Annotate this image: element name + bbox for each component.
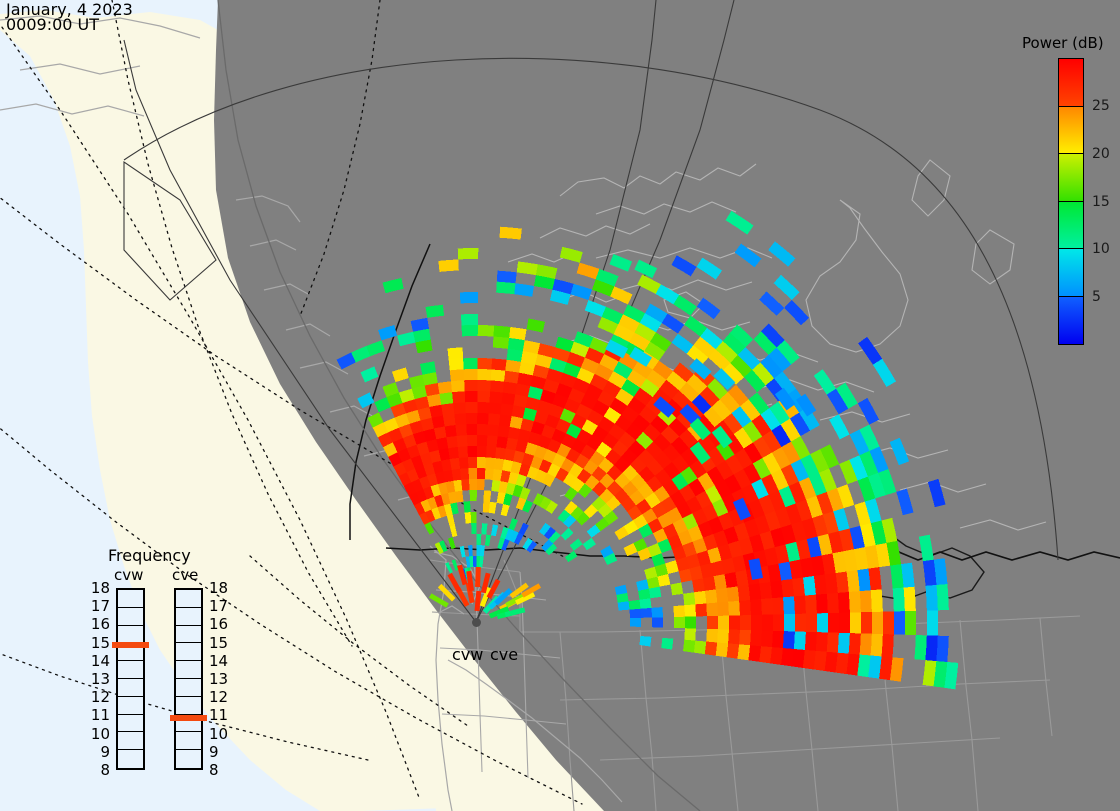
range-gate-cell: [468, 457, 477, 468]
range-gate-cell: [500, 227, 522, 240]
frequency-legend-title: Frequency: [108, 546, 191, 565]
range-gate-cell: [827, 632, 839, 652]
frequency-tick-cve-15: 15: [209, 634, 231, 652]
range-gate-cell: [803, 576, 816, 596]
range-gate-cell: [466, 424, 477, 435]
range-gate-cell: [706, 629, 718, 643]
range-gate-cell: [465, 512, 472, 523]
range-gate-cell: [438, 381, 452, 394]
range-gate-cell: [486, 446, 496, 458]
range-gate-cell: [894, 611, 905, 635]
range-gate-cell: [692, 578, 705, 592]
range-gate-cell: [727, 643, 740, 658]
range-gate-cell: [427, 394, 441, 407]
frequency-tick-cvw-13: 13: [88, 670, 110, 688]
range-gate-cell: [717, 602, 729, 616]
range-gate-cell: [849, 633, 861, 654]
range-gate-cell: [457, 435, 468, 447]
range-gate-cell: [651, 607, 663, 618]
range-gate-cell: [467, 435, 477, 446]
colorbar-tick-10: 10: [1092, 241, 1110, 257]
range-gate-cell: [705, 642, 717, 656]
frequency-cell: [118, 679, 143, 697]
frequency-cell: [176, 643, 201, 661]
range-gate-cell: [450, 458, 460, 470]
range-gate-cell: [507, 349, 523, 362]
range-gate-cell: [639, 598, 651, 609]
range-gate-cell: [489, 402, 502, 414]
range-gate-cell: [509, 327, 526, 340]
range-gate-cell: [448, 447, 459, 459]
range-gate-cell: [750, 599, 762, 615]
range-gate-cell: [835, 653, 848, 674]
range-gate-cell: [477, 424, 488, 435]
frequency-tick-cvw-9: 9: [88, 743, 110, 761]
frequency-tick-cve-8: 8: [209, 761, 231, 779]
range-gate-cell: [839, 613, 850, 634]
range-gate-cell: [727, 586, 739, 601]
frequency-tick-cvw-8: 8: [88, 761, 110, 779]
range-gate-cell: [477, 479, 485, 490]
range-gate-cell: [673, 605, 685, 617]
range-gate-cell: [738, 585, 751, 601]
range-gate-cell: [761, 598, 773, 615]
frequency-tick-cvw-16: 16: [88, 615, 110, 633]
range-gate-cell: [477, 468, 486, 479]
range-gate-cell: [467, 446, 477, 457]
range-gate-cell: [451, 380, 465, 392]
range-gate-cell: [794, 596, 806, 614]
range-gate-cell: [814, 575, 827, 595]
frequency-radar-name-cvw: cvw: [114, 566, 143, 584]
range-gate-cell: [836, 572, 849, 593]
range-gate-cell: [461, 314, 478, 325]
range-gate-cell: [476, 545, 480, 556]
range-gate-cell: [649, 587, 661, 599]
frequency-cell: [118, 750, 143, 768]
range-gate-cell: [490, 380, 504, 392]
range-gate-cell: [685, 616, 696, 628]
range-gate-cell: [860, 590, 872, 612]
range-gate-cell: [728, 601, 740, 616]
range-gate-cell: [491, 369, 506, 381]
range-gate-cell: [441, 403, 454, 415]
frequency-scale-cve[interactable]: [174, 588, 203, 770]
range-gate-cell: [883, 611, 894, 634]
frequency-tick-cvw-18: 18: [88, 579, 110, 597]
frequency-cell: [118, 626, 143, 644]
range-gate-cell: [737, 644, 750, 660]
range-gate-cell: [814, 651, 827, 671]
range-gate-cell: [468, 468, 476, 479]
range-gate-cell: [661, 638, 673, 650]
range-gate-cell: [849, 591, 861, 612]
range-gate-cell: [499, 414, 512, 426]
range-gate-cell: [893, 588, 905, 612]
range-gate-cell: [477, 402, 489, 413]
range-gate-cell: [792, 577, 805, 596]
range-gate-cell: [464, 369, 478, 380]
range-gate-cell: [478, 358, 493, 369]
range-gate-cell: [716, 642, 728, 657]
range-gate-cell: [454, 413, 466, 425]
range-gate-cell: [445, 425, 457, 437]
frequency-cell: [118, 697, 143, 715]
range-gate-cell: [759, 646, 772, 663]
range-gate-cell: [792, 649, 805, 668]
range-gate-cell: [805, 595, 817, 614]
range-gate-cell: [452, 391, 465, 403]
range-gate-cell: [784, 614, 795, 632]
range-gate-cell: [724, 572, 737, 588]
frequency-legend: Frequency cvw18171615141312111098cve1817…: [78, 546, 248, 786]
range-gate-cell: [471, 523, 476, 534]
range-gate-cell: [927, 610, 938, 635]
range-gate-cell: [817, 613, 828, 632]
range-gate-cell: [469, 479, 477, 490]
range-gate-cell: [816, 594, 828, 614]
range-gate-cell: [825, 573, 838, 594]
range-gate-cell: [477, 413, 489, 424]
range-gate-cell: [446, 436, 457, 448]
range-gate-cell: [718, 616, 729, 630]
range-gate-cell: [487, 435, 498, 447]
range-gate-cell: [714, 574, 727, 589]
frequency-cell: [176, 697, 201, 715]
range-gate-cell: [925, 635, 937, 661]
range-gate-cell: [618, 601, 630, 610]
range-gate-cell: [485, 457, 495, 469]
colorbar-segment-5-10: [1059, 249, 1083, 297]
colorbar-segment-15-20: [1059, 154, 1083, 202]
range-gate-cell: [449, 358, 464, 370]
range-gate-cell: [871, 589, 883, 612]
range-gate-cell: [476, 534, 481, 545]
frequency-cell: [176, 732, 201, 750]
range-gate-cell: [461, 325, 477, 336]
range-gate-cell: [640, 608, 651, 618]
range-gate-cell: [770, 580, 783, 598]
range-gate-cell: [770, 647, 783, 665]
range-gate-cell: [493, 326, 510, 338]
range-gate-cell: [508, 338, 525, 351]
colorbar-tick-5: 5: [1092, 289, 1101, 305]
range-gate-cell: [630, 609, 641, 618]
range-gate-cell: [477, 369, 491, 380]
range-gate-cell: [471, 512, 477, 523]
range-gate-cell: [828, 613, 839, 633]
range-gate-cell: [860, 633, 872, 655]
range-gate-cell: [460, 292, 478, 303]
range-gate-cell: [496, 282, 515, 295]
range-gate-cell: [827, 593, 839, 613]
range-gate-cell: [783, 631, 795, 649]
range-gate-cell: [936, 636, 948, 662]
range-gate-cell: [498, 425, 510, 437]
range-gate-cell: [705, 589, 717, 603]
range-gate-cell: [707, 616, 718, 629]
range-gate-cell: [871, 634, 883, 657]
range-gate-cell: [477, 380, 490, 391]
range-gate-cell: [905, 611, 916, 635]
frequency-tick-cvw-12: 12: [88, 688, 110, 706]
frequency-tick-cve-12: 12: [209, 688, 231, 706]
frequency-scale-cvw[interactable]: [116, 588, 145, 770]
station-label-cve: cve: [490, 645, 518, 664]
range-gate-cell: [795, 614, 806, 632]
range-gate-cell: [805, 632, 817, 651]
range-gate-cell: [455, 424, 466, 436]
colorbar-title: Power (dB): [1022, 34, 1104, 52]
range-gate-cell: [458, 446, 468, 458]
range-gate-cell: [477, 435, 487, 446]
range-gate-cell: [500, 403, 513, 416]
range-gate-cell: [501, 393, 515, 406]
range-gate-cell: [794, 631, 806, 649]
fan-plot-root: January, 4 2023 0009:00 UT Power (dB) 25…: [0, 0, 1120, 811]
frequency-marker-cve: [170, 715, 207, 721]
range-gate-cell: [463, 501, 470, 512]
colorbar-segment-20-25: [1059, 107, 1083, 155]
frequency-cell: [118, 590, 143, 608]
colorbar-tick-15: 15: [1092, 194, 1110, 210]
frequency-tick-cvw-14: 14: [88, 652, 110, 670]
range-gate-cell: [426, 305, 445, 318]
radar-site-marker: [472, 618, 481, 627]
range-gate-cell: [639, 636, 651, 647]
range-gate-cell: [495, 447, 506, 459]
frequency-tick-cve-14: 14: [209, 652, 231, 670]
range-gate-cell: [461, 479, 469, 491]
range-gate-cell: [838, 592, 850, 613]
range-gate-cell: [751, 615, 762, 631]
colorbar-segment-25-30: [1059, 59, 1083, 107]
range-gate-cell: [458, 248, 479, 259]
range-gate-cell: [914, 635, 926, 660]
station-label-cvw: cvw: [452, 645, 483, 664]
colorbar-tick-20: 20: [1092, 146, 1110, 162]
range-gate-cell: [838, 633, 850, 654]
frequency-tick-cvw-17: 17: [88, 597, 110, 615]
range-gate-cell: [489, 391, 502, 403]
range-gate-cell: [694, 641, 706, 655]
range-gate-cell: [652, 617, 663, 627]
frequency-tick-cvw-10: 10: [88, 725, 110, 743]
range-gate-cell: [464, 380, 477, 391]
range-gate-cell: [477, 446, 487, 457]
range-gate-cell: [695, 603, 707, 616]
range-gate-cell: [803, 650, 816, 670]
frequency-tick-cvw-11: 11: [88, 706, 110, 724]
range-gate-cell: [478, 325, 494, 337]
range-gate-cell: [684, 604, 696, 616]
range-gate-cell: [748, 645, 761, 662]
range-gate-cell: [504, 371, 519, 384]
near-range-cell: [475, 567, 481, 587]
frequency-marker-cvw: [112, 642, 149, 648]
range-gate-cell: [683, 592, 695, 605]
frequency-tick-cve-11: 11: [209, 706, 231, 724]
range-gate-cell: [872, 612, 883, 634]
range-gate-cell: [717, 629, 729, 643]
colorbar-gradient: [1058, 58, 1084, 345]
range-gate-cell: [783, 596, 795, 614]
range-gate-cell: [465, 391, 478, 402]
power-colorbar: Power (dB) 252015105: [1014, 34, 1120, 354]
range-gate-cell: [781, 648, 794, 666]
range-gate-cell: [465, 402, 477, 413]
range-gate-cell: [772, 631, 784, 648]
range-gate-cell: [485, 468, 494, 480]
colorbar-tick-25: 25: [1092, 98, 1110, 114]
range-gate-cell: [503, 382, 517, 395]
range-gate-cell: [706, 603, 718, 617]
range-gate-cell: [703, 576, 716, 591]
frequency-tick-cvw-15: 15: [88, 634, 110, 652]
range-gate-cell: [450, 369, 464, 381]
range-gate-cell: [750, 630, 762, 646]
frequency-tick-cve-18: 18: [209, 579, 231, 597]
frequency-cell: [176, 750, 201, 768]
range-gate-cell: [748, 583, 761, 600]
colorbar-segment-10-15: [1059, 202, 1083, 250]
range-gate-cell: [453, 402, 466, 414]
range-gate-cell: [861, 612, 872, 634]
frequency-tick-cve-10: 10: [209, 725, 231, 743]
frequency-tick-cve-17: 17: [209, 597, 231, 615]
range-gate-cell: [674, 617, 685, 628]
frequency-tick-cve-13: 13: [209, 670, 231, 688]
range-gate-cell: [629, 600, 641, 610]
range-gate-cell: [630, 618, 641, 627]
range-gate-cell: [739, 630, 751, 645]
frequency-cell: [118, 715, 143, 733]
range-gate-cell: [463, 358, 478, 369]
frequency-radar-name-cve: cve: [172, 566, 198, 584]
frequency-cell: [118, 661, 143, 679]
range-gate-cell: [773, 614, 784, 631]
range-gate-cell: [926, 585, 938, 611]
range-gate-cell: [670, 582, 683, 595]
range-gate-cell: [728, 630, 740, 645]
range-gate-cell: [729, 615, 740, 630]
range-gate-cell: [847, 570, 860, 592]
range-gate-cell: [806, 613, 817, 632]
frequency-tick-cve-9: 9: [209, 743, 231, 761]
range-gate-cell: [716, 588, 728, 603]
frequency-cell: [176, 590, 201, 608]
frequency-cell: [118, 732, 143, 750]
range-gate-cell: [850, 612, 861, 633]
range-gate-cell: [694, 591, 706, 605]
range-gate-cell: [904, 587, 916, 611]
range-gate-cell: [496, 436, 507, 448]
frequency-cell: [176, 608, 201, 626]
range-gate-cell: [739, 600, 751, 615]
frequency-cell: [176, 679, 201, 697]
range-gate-cell: [781, 579, 794, 597]
range-gate-cell: [762, 614, 773, 630]
range-gate-cell: [488, 413, 500, 425]
range-gate-cell: [882, 634, 894, 657]
range-gate-cell: [493, 337, 509, 349]
range-gate-cell: [683, 640, 695, 653]
range-gate-cell: [459, 457, 469, 469]
range-gate-cell: [816, 632, 828, 652]
range-gate-cell: [825, 652, 838, 673]
range-gate-cell: [473, 556, 477, 567]
range-gate-cell: [487, 424, 499, 436]
range-gate-cell: [483, 490, 491, 502]
range-gate-cell: [429, 405, 443, 418]
range-gate-cell: [512, 405, 526, 418]
range-gate-cell: [759, 582, 772, 599]
range-gate-cell: [477, 391, 490, 402]
range-gate-cell: [684, 628, 696, 640]
range-gate-cell: [483, 501, 490, 513]
range-gate-cell: [497, 271, 517, 284]
plot-time-label: 0009:00 UT: [6, 17, 99, 32]
range-gate-cell: [466, 413, 477, 424]
range-gate-cell: [443, 414, 456, 426]
range-gate-cell: [470, 490, 477, 501]
frequency-tick-cve-16: 16: [209, 615, 231, 633]
colorbar-segment-0-5: [1059, 297, 1083, 345]
range-gate-cell: [772, 597, 784, 614]
range-gate-cell: [491, 358, 506, 370]
range-gate-cell: [432, 416, 445, 429]
frequency-cell: [176, 626, 201, 644]
range-gate-cell: [460, 468, 469, 480]
range-gate-cell: [740, 615, 751, 630]
range-gate-cell: [505, 360, 521, 373]
range-gate-cell: [761, 630, 773, 647]
frequency-cell: [176, 661, 201, 679]
range-gate-cell: [438, 259, 458, 271]
range-gate-cell: [439, 392, 453, 405]
range-gate-cell: [447, 347, 463, 359]
range-gate-cell: [477, 457, 486, 468]
frequency-cell: [118, 608, 143, 626]
range-gate-cell: [937, 584, 949, 610]
